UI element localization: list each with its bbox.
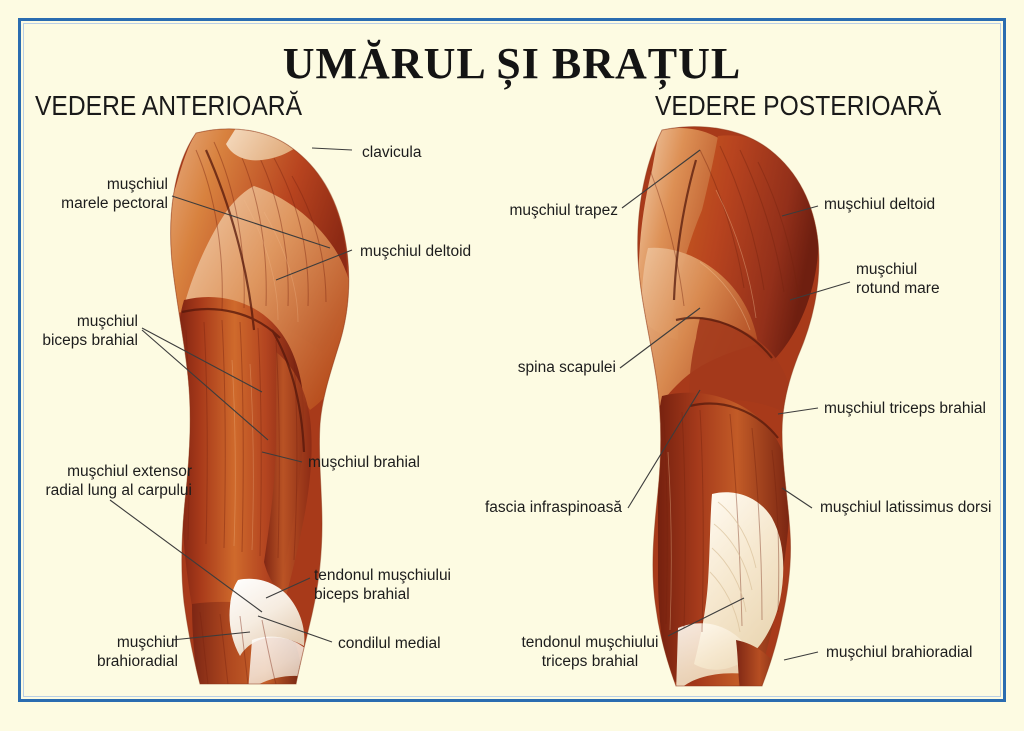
label-latissimus-dorsi: muşchiul latissimus dorsi [820, 498, 991, 517]
label-tendon-biceps: tendonul muşchiului biceps brahial [314, 566, 451, 604]
label-deltoid-posterior: muşchiul deltoid [824, 195, 935, 214]
label-tendon-triceps: tendonul muşchiului triceps brahial [516, 633, 664, 671]
label-spina-scapulei: spina scapulei [430, 358, 616, 377]
page-title: UMĂRUL ȘI BRAȚUL [0, 38, 1024, 89]
label-biceps-brahial: muşchiul biceps brahial [0, 312, 138, 350]
label-marele-pectoral: muşchiul marele pectoral [0, 175, 168, 213]
label-brahioradial-posterior: muşchiul brahioradial [826, 643, 972, 662]
label-triceps-brahial: muşchiul triceps brahial [824, 399, 986, 418]
posterior-view-subtitle: VEDERE POSTERIOARĂ [655, 90, 941, 122]
label-trapez: muşchiul trapez [430, 201, 618, 220]
label-brahioradial-anterior: muşchiul brahioradial [0, 633, 178, 671]
posterior-arm-body [620, 118, 840, 698]
anterior-view-subtitle: VEDERE ANTERIOARĂ [35, 90, 302, 122]
label-brahial: muşchiul brahial [308, 453, 420, 472]
label-extensor-radial: muşchiul extensor radial lung al carpulu… [0, 462, 192, 500]
label-rotund-mare: muşchiul rotund mare [856, 260, 940, 298]
label-clavicula: clavicula [362, 143, 421, 162]
label-fascia-infraspinoasa: fascia infraspinoasă [430, 498, 622, 517]
label-condilul-medial: condilul medial [338, 634, 441, 653]
label-deltoid-anterior: muşchiul deltoid [360, 242, 471, 261]
anatomy-poster: UMĂRUL ȘI BRAȚUL VEDERE ANTERIOARĂ VEDER… [0, 0, 1024, 731]
